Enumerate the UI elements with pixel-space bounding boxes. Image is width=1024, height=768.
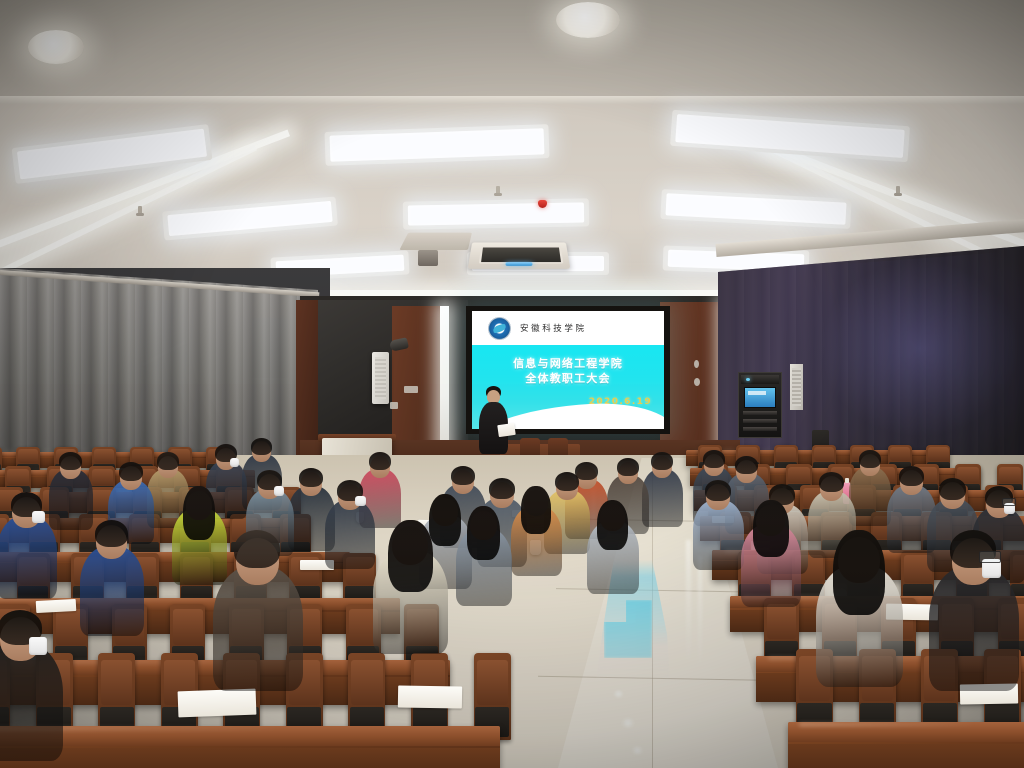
eyeglasses (979, 551, 1001, 563)
chair-back (92, 469, 114, 486)
ceiling-downlight (556, 2, 620, 38)
wall-fixture (694, 378, 700, 386)
floor-light-reflection (630, 746, 645, 755)
ac-grille (479, 246, 563, 263)
person-hair (735, 456, 758, 474)
face-mask (274, 486, 284, 496)
person-body (0, 643, 63, 761)
presenter-papers (497, 423, 516, 437)
chair-back (94, 449, 114, 463)
chair-back (477, 660, 508, 705)
chair-back (132, 449, 152, 463)
wall-switch-plate[interactable] (390, 402, 398, 409)
smoke-detector-icon (896, 186, 900, 195)
person-hair (234, 530, 280, 568)
person-hair (575, 462, 598, 480)
face-mask (355, 496, 366, 506)
chair-back (351, 660, 382, 705)
chair-back (18, 449, 38, 463)
slide-header-band: 安徽科技学院 (472, 311, 664, 345)
air-conditioner-unit (468, 242, 571, 268)
wall-light-column-left (440, 306, 449, 456)
person-hair (183, 486, 215, 540)
person-hair (59, 452, 82, 470)
person-hair (467, 506, 500, 560)
ac-indicator-led (506, 262, 533, 266)
av-rack-top-unit (741, 375, 779, 384)
person-hair (833, 530, 885, 615)
floor-light-reflection (612, 690, 625, 698)
face-mask (230, 458, 239, 467)
person-hair (451, 466, 475, 485)
chair-back (928, 447, 948, 461)
floor-light-streak (686, 540, 691, 660)
slide-title-line-2: 全体教职工大会 (472, 371, 664, 386)
person-hair (899, 466, 924, 486)
chair-back (814, 447, 834, 461)
desk-highlight (799, 723, 973, 726)
person-hair (429, 494, 461, 546)
paper-document (178, 689, 257, 718)
university-name: 安徽科技学院 (520, 322, 587, 334)
desk (788, 722, 1024, 768)
desk-top (0, 726, 500, 746)
person-hair (95, 520, 128, 547)
person-hair (555, 472, 579, 491)
av-equipment-rack[interactable] (738, 372, 782, 438)
paper-document (398, 685, 462, 708)
face-mask (29, 637, 47, 655)
desk-front-panel (0, 748, 500, 768)
conference-room-photo: 安徽科技学院 信息与网络工程学院 全体教职工大会 2020.6.19 (0, 0, 1024, 768)
person-hair (705, 480, 731, 501)
person-hair (119, 462, 143, 481)
person-hair (597, 500, 628, 550)
person-hair (651, 452, 673, 470)
wall-fixture (694, 360, 699, 368)
person-hair (859, 450, 881, 468)
av-rack-shelf (743, 411, 777, 415)
person-hair (369, 452, 391, 470)
ac-duct (399, 233, 472, 250)
wood-panel-left-of-screen (392, 306, 440, 456)
ceiling-downlight (28, 30, 84, 64)
chair-back (890, 447, 910, 461)
eyeglasses (1002, 498, 1016, 506)
chair-back (173, 609, 202, 644)
wall-plate (404, 386, 418, 393)
person-body (325, 500, 375, 569)
smoke-detector-icon (138, 206, 142, 215)
floor-light-reflection (620, 718, 636, 728)
chair-back (776, 447, 796, 461)
chair-back (7, 469, 29, 486)
person-body (80, 546, 144, 636)
person-hair (939, 478, 966, 500)
chair-back (101, 660, 132, 705)
wall-speaker-right-icon (790, 364, 803, 410)
smoke-detector-icon (496, 186, 500, 195)
wall-speaker-icon (372, 352, 389, 404)
person-hair (753, 500, 789, 557)
desk-top (788, 722, 1024, 742)
ceiling-panel-light (408, 202, 584, 225)
chair-back (788, 467, 810, 484)
person-hair (489, 478, 515, 499)
desk (0, 726, 500, 768)
ceiling-upper-band (0, 0, 1024, 105)
person-body (693, 500, 744, 570)
person-hair (388, 520, 433, 592)
chair-back (767, 604, 796, 640)
person-hair (251, 438, 272, 455)
av-rack-monitor (744, 387, 776, 408)
av-rack-shelf (743, 419, 777, 423)
person-hair (703, 450, 725, 468)
person-body (0, 516, 57, 599)
desk-front-panel (788, 744, 1024, 768)
person-hair (299, 468, 323, 487)
person-hair (157, 452, 179, 470)
face-mask (32, 511, 45, 523)
projector-mount (418, 250, 438, 266)
chair-back (999, 467, 1021, 484)
person-hair (617, 458, 639, 476)
paper-document (36, 599, 77, 613)
floor-light-streak (698, 556, 702, 666)
university-logo-icon (488, 317, 511, 340)
person-hair (819, 472, 844, 492)
person-hair (521, 486, 551, 534)
slide-title: 信息与网络工程学院 全体教职工大会 (472, 356, 664, 386)
slide-title-line-1: 信息与网络工程学院 (472, 356, 664, 371)
av-rack-shelf (743, 427, 777, 431)
